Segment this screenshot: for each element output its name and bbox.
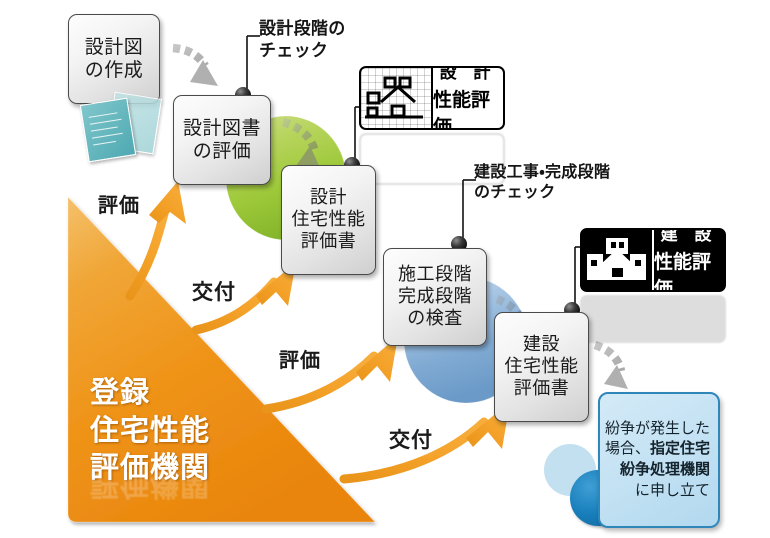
process-box-design-drawing-creation-label: 設計図 の作成 <box>85 36 144 82</box>
diagram-canvas: 設計図 の作成 設計図書 の評価 設計 住宅性能 評価書 施工段階 完成段階 の… <box>0 0 770 538</box>
badge-construction-bottom-label: 性能評価 <box>654 247 724 293</box>
badge-construction-top-label: 建 設 <box>661 228 718 245</box>
arrow-label-issuance-1: 交付 <box>192 276 236 306</box>
callout-design-stage-check: 設計段階の チェック <box>259 18 346 62</box>
process-box-construction-housing-performance-report-label: 建設 住宅性能 評価書 <box>505 334 579 400</box>
badge-design-text: 設 計 性能評価 <box>431 68 503 128</box>
dispute-line-2: 場合、指定住宅 <box>605 439 710 460</box>
process-box-construction-completion-inspection[interactable]: 施工段階 完成段階 の検査 <box>383 248 487 346</box>
arrow-label-evaluation-1: 評価 <box>98 189 140 218</box>
arrow-label-issuance-2: 交付 <box>389 424 433 454</box>
dispute-line-2-emphasis: 指定住宅 <box>650 440 710 457</box>
badge-design-top-label: 設 計 <box>440 66 497 83</box>
badge-design-bottom-label: 性能評価 <box>433 85 503 131</box>
leader-line-design-stage-check <box>235 36 260 103</box>
flow-arrow-gray-1 <box>173 48 218 86</box>
dispute-line-4: に申し立て <box>605 481 710 502</box>
house-blueprint-icon <box>361 68 431 128</box>
blueprint-documents-icon <box>80 95 166 165</box>
dispute-line-3: 紛争処理機関 <box>605 460 710 481</box>
house-building-icon <box>582 230 652 290</box>
badge-construction-performance: 建 設 性能評価 <box>580 228 726 292</box>
dispute-line-2-prefix: 場合、 <box>605 440 650 457</box>
process-box-design-housing-performance-report-label: 設計 住宅性能 評価書 <box>292 187 366 253</box>
leader-line-construction-stage-check <box>451 180 476 252</box>
dispute-line-1: 紛争が発生した <box>605 419 710 440</box>
dispute-resolution-note[interactable]: 紛争が発生した 場合、指定住宅 紛争処理機関 に申し立て <box>598 392 720 528</box>
process-box-design-document-evaluation-label: 設計図書 の評価 <box>183 117 261 163</box>
callout-construction-completion-stage-check: 建設工事・完成段階 のチェック <box>474 163 610 204</box>
process-box-design-housing-performance-report[interactable]: 設計 住宅性能 評価書 <box>281 165 376 275</box>
badge-design-performance: 設 計 性能評価 <box>359 66 505 130</box>
process-box-construction-completion-inspection-label: 施工段階 完成段階 の検査 <box>398 264 472 330</box>
flow-arrow-gray-3 <box>595 345 628 389</box>
process-box-construction-housing-performance-report[interactable]: 建設 住宅性能 評価書 <box>494 312 589 422</box>
badge-construction-text: 建 設 性能評価 <box>652 230 724 290</box>
organization-name-reflection: 評価機関 <box>90 466 210 508</box>
process-box-design-document-evaluation[interactable]: 設計図書 の評価 <box>173 95 271 185</box>
arrow-label-evaluation-2: 評価 <box>279 344 321 373</box>
